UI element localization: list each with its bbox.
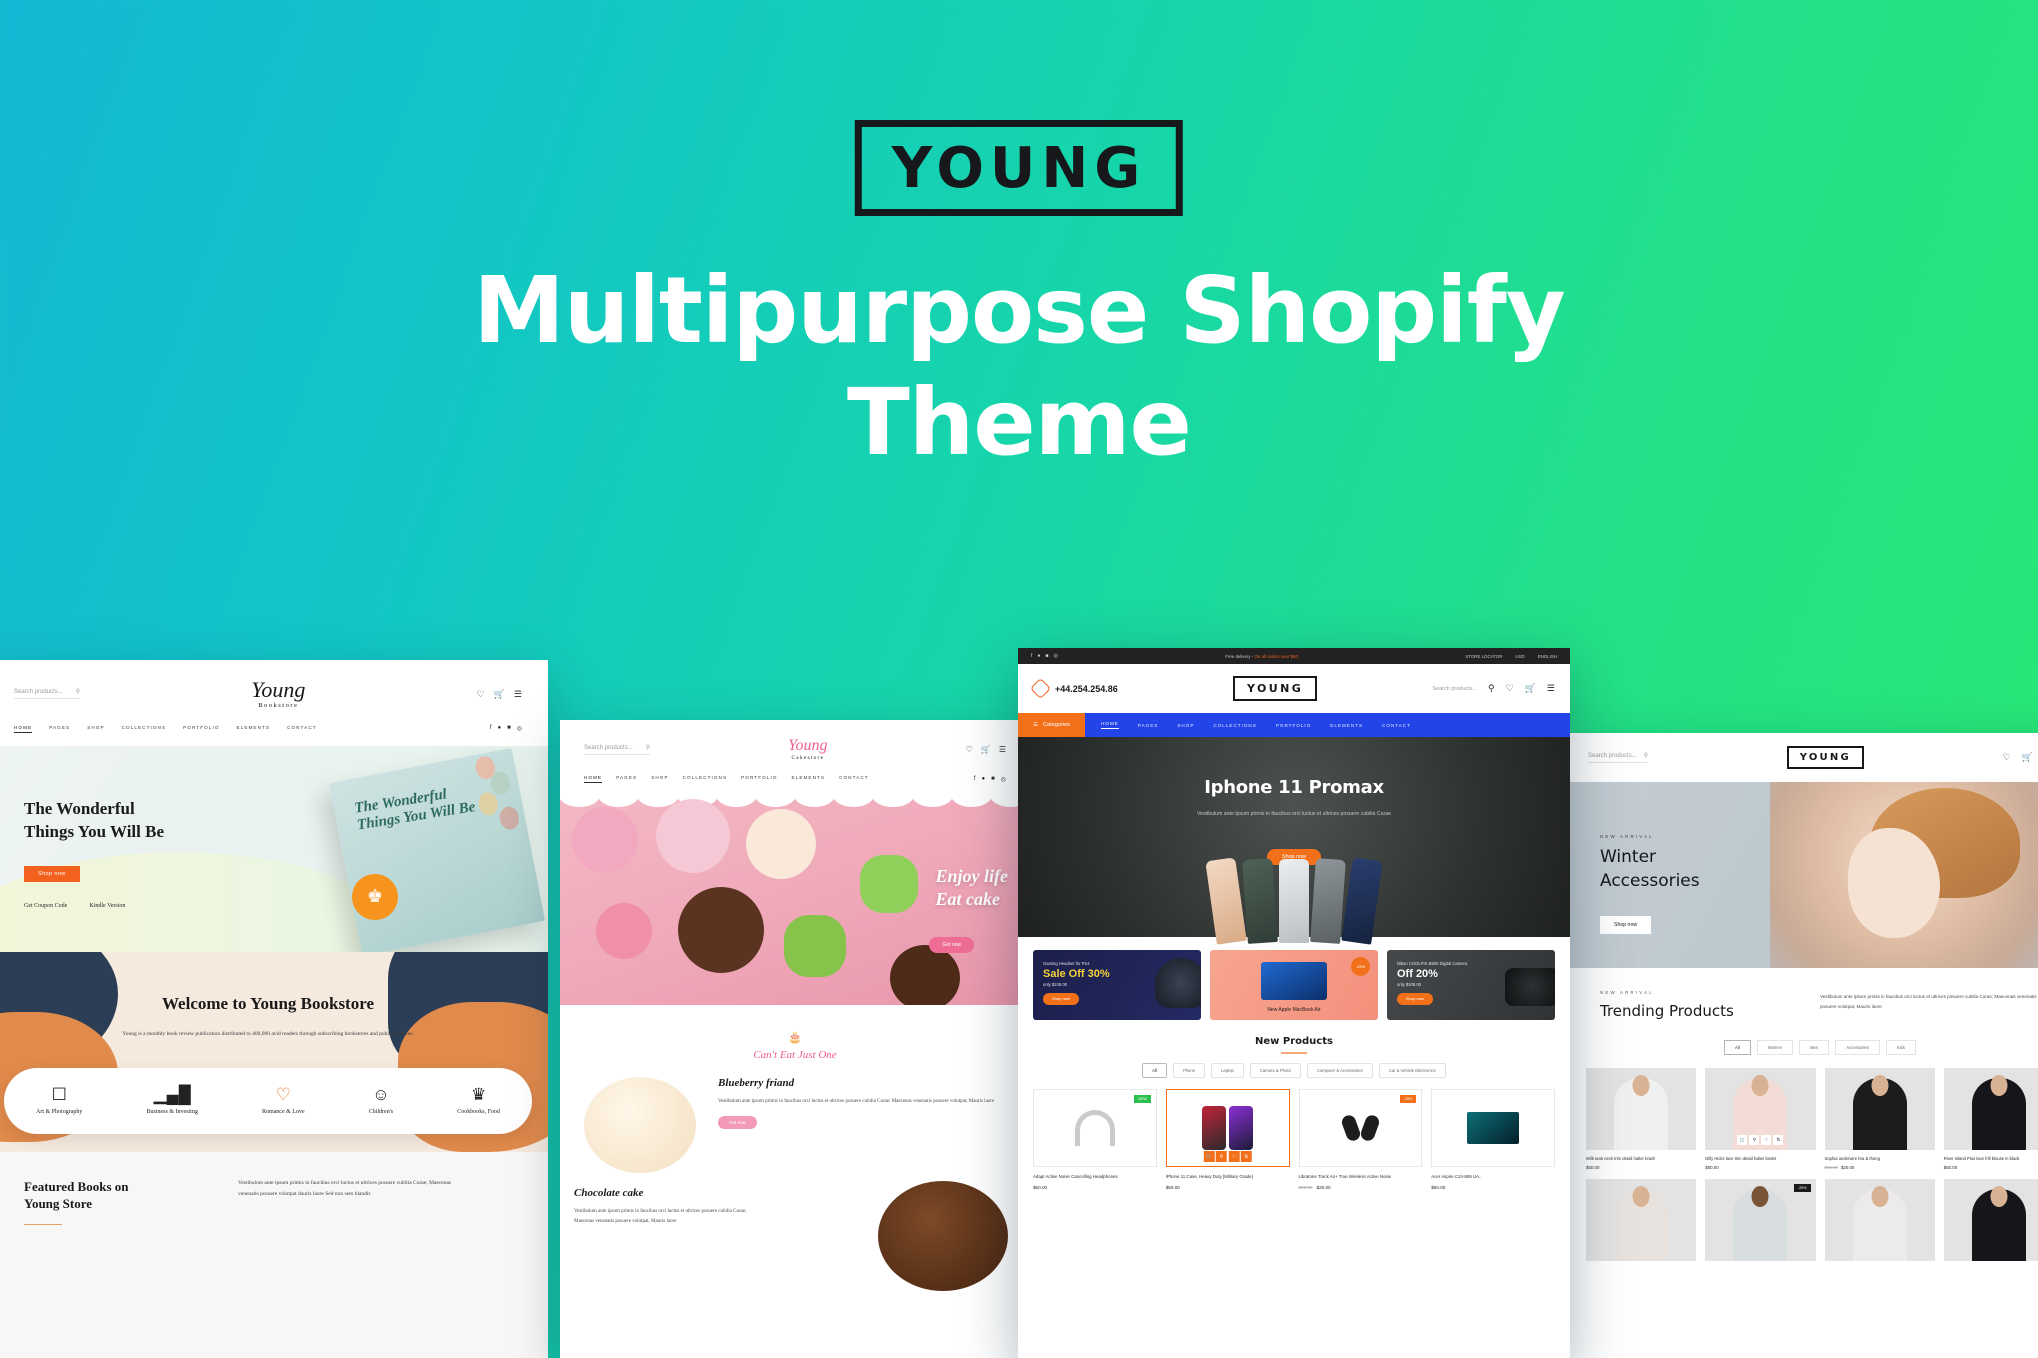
new-badge: NEW <box>1134 1095 1150 1103</box>
search-input[interactable]: Search products... <box>1432 686 1477 692</box>
camera-image <box>1505 968 1555 1006</box>
bookstore-logo-name: Young <box>251 680 305 701</box>
featured-books-section: Featured Books on Young Store Vestibulum… <box>0 1152 548 1358</box>
electronics-nav[interactable]: ☰ Categories HOME PAGES SHOP COLLECTIONS… <box>1018 713 1570 737</box>
wishlist-icon[interactable]: ♡ <box>2003 752 2011 763</box>
product-grid[interactable]: NEW Adapt Active Noise Cancelling Headph… <box>1018 1078 1570 1190</box>
smiley-icon: ☺ <box>369 1086 393 1103</box>
product-image[interactable] <box>1944 1179 2038 1261</box>
welcome-title: Welcome to Young Bookstore <box>0 994 548 1014</box>
hero-title-line-2: Accessories <box>1600 871 1700 891</box>
electronics-nav-links[interactable]: HOME PAGES SHOP COLLECTIONS PORTFOLIO EL… <box>1085 713 1570 737</box>
promo-banners[interactable]: Gaming Headset for PS4 Sale Off 30% only… <box>1018 937 1570 1030</box>
donut-image <box>678 887 764 973</box>
fashion-header: Search products... ⚲ YOUNG ♡ 🛒 ☰ <box>1570 733 2038 782</box>
chef-icon: ♛ <box>457 1086 500 1103</box>
search-placeholder: Search products... <box>584 745 633 751</box>
promo-banner-headset[interactable]: Gaming Headset for PS4 Sale Off 30% only… <box>1033 950 1201 1020</box>
product-price: $50.00 <box>1705 1165 1815 1170</box>
chart-icon: ▁▄█ <box>147 1086 198 1103</box>
cake-name: Blueberry friand <box>718 1077 1018 1089</box>
product-name: iPhone 11 Case, Heavy Duty [Military Gra… <box>1166 1174 1290 1181</box>
cakestore-social-links[interactable]: f ● ■ ◎ <box>974 776 1006 783</box>
model-head <box>1633 1186 1650 1207</box>
nav-item-home[interactable]: HOME <box>14 725 32 733</box>
category-romance-love[interactable]: ♡ Romance & Love <box>262 1086 305 1115</box>
discount-badge: -25% <box>1400 1095 1416 1103</box>
shop-now-button[interactable]: Shop now <box>1043 993 1079 1005</box>
product-image[interactable]: 🛒 ⚲ ♡ ⇅ <box>1705 1068 1815 1150</box>
cake-item[interactable]: Chocolate cake Vestibulum ante ipsum pri… <box>570 1187 1018 1227</box>
product-image[interactable] <box>1586 1179 1696 1261</box>
product-name: Libratone Track Air+ True Wireless Activ… <box>1299 1174 1423 1181</box>
electronics-header: +44.254.254.86 YOUNG Search products... … <box>1018 664 1570 713</box>
search-input[interactable]: Search products... ⚲ <box>584 745 650 755</box>
model-head <box>1752 1075 1769 1096</box>
category-label: Children's <box>369 1109 393 1115</box>
add-to-cart-icon[interactable]: 🛒 <box>1203 1151 1214 1162</box>
iphone-case-image <box>1202 1106 1226 1150</box>
preview-cakestore[interactable]: Search products... ⚲ Young Cakestore ♡ 🛒… <box>560 720 1030 1358</box>
cart-icon[interactable]: 🛒 <box>981 745 991 754</box>
product-card[interactable]: Acer Aspire C24-865 UA.. $50.00 <box>1431 1089 1555 1190</box>
iphone-screen-image <box>1229 1106 1253 1150</box>
product-name: Acer Aspire C24-865 UA.. <box>1431 1174 1555 1181</box>
tab-all[interactable]: All <box>1142 1063 1167 1078</box>
donut-image <box>572 807 638 873</box>
tab-women[interactable]: Women <box>1757 1040 1793 1055</box>
donut-image <box>596 903 652 959</box>
twitter-icon[interactable]: ● <box>982 776 986 783</box>
hero-title-line-1: The Wonderful <box>24 799 135 818</box>
nav-item-pages[interactable]: PAGES <box>49 725 70 733</box>
cake-photo <box>584 1077 696 1173</box>
search-input[interactable]: Search products... ⚲ <box>14 689 80 699</box>
frame-icon: ☐ <box>36 1086 82 1103</box>
search-icon[interactable]: ⚲ <box>1644 753 1648 759</box>
search-icon[interactable]: ⚲ <box>76 689 80 695</box>
product-new-price: $20.00 <box>1841 1165 1854 1170</box>
category-art-photography[interactable]: ☐ Art & Photography <box>36 1086 82 1115</box>
electronics-hero: Iphone 11 Promax Vestibulum ante ipsum p… <box>1018 737 1570 937</box>
cake-photo <box>878 1181 1008 1291</box>
electronics-logo[interactable]: YOUNG <box>1233 676 1317 701</box>
cakestore-logo-name: Young <box>788 738 827 754</box>
product-image[interactable]: -25% <box>1299 1089 1423 1167</box>
search-placeholder: Search products... <box>14 689 63 695</box>
bookstore-logo-sub: Bookstore <box>251 702 305 709</box>
cart-icon[interactable]: 🛒 <box>1525 683 1536 694</box>
product-name: Adapt Active Noise Cancelling Headphones <box>1033 1174 1157 1181</box>
youtube-icon[interactable]: ■ <box>507 725 511 732</box>
cakestore-logo[interactable]: Young Cakestore <box>788 738 827 761</box>
product-price: $50.00 <box>1431 1185 1555 1190</box>
search-icon[interactable]: ⚲ <box>646 745 650 751</box>
scallop-decoration <box>560 795 1030 807</box>
fashion-hero-title: Winter Accessories <box>1600 846 1700 894</box>
cake-icon: 🎂 <box>560 1031 1030 1044</box>
model-image <box>1770 782 2038 968</box>
menu-icon[interactable]: ☰ <box>1547 683 1555 694</box>
award-badge-icon: ♚ <box>352 874 398 920</box>
brand-logo-text: YOUNG <box>892 141 1146 197</box>
product-new-price: $20.00 <box>1317 1185 1331 1190</box>
product-image[interactable]: 🛒 ⚲ ♡ ⇅ <box>1166 1089 1290 1167</box>
balloons-decoration <box>475 757 521 834</box>
product-card[interactable]: NEW Adapt Active Noise Cancelling Headph… <box>1033 1089 1157 1190</box>
preview-bookstore[interactable]: Search products... ⚲ Young Bookstore ♡ 🛒… <box>0 660 548 1358</box>
cake-description: Vestibulum ante ipsum primis in faucibus… <box>574 1207 764 1227</box>
phone-number[interactable]: +44.254.254.86 <box>1033 681 1118 696</box>
shop-now-button[interactable]: Shop now <box>1600 916 1651 934</box>
nav-item-collections[interactable]: COLLECTIONS <box>1213 723 1256 728</box>
bookstore-nav[interactable]: HOME PAGES SHOP COLLECTIONS PORTFOLIO EL… <box>14 725 317 733</box>
quick-view-icon[interactable]: ⚲ <box>1749 1135 1759 1145</box>
product-card[interactable] <box>1825 1179 1935 1261</box>
heart-icon: ♡ <box>262 1086 305 1103</box>
product-name: Sophia underwire bra & thong <box>1825 1156 1935 1162</box>
menu-icon[interactable]: ☰ <box>999 745 1006 754</box>
model-head <box>1990 1186 2007 1207</box>
nav-item-pages[interactable]: PAGES <box>1138 723 1159 728</box>
product-card[interactable]: -25% <box>1705 1179 1815 1261</box>
get-now-button[interactable]: Get now <box>718 1116 757 1129</box>
category-strip[interactable]: ☐ Art & Photography ▁▄█ Business & Inves… <box>4 1068 532 1134</box>
menu-icon[interactable]: ☰ <box>514 689 522 700</box>
meringue-image <box>784 915 846 977</box>
cakestore-header-icons[interactable]: ♡ 🛒 ☰ <box>966 745 1006 754</box>
quick-view-icon[interactable]: ⚲ <box>1216 1151 1227 1162</box>
nav-item-shop[interactable]: SHOP <box>87 725 104 733</box>
page-title-line-2: Theme <box>0 367 2038 479</box>
earbud-image <box>1340 1113 1362 1142</box>
tab-car-vehicle[interactable]: Car & Vehicle Electronics <box>1379 1063 1446 1078</box>
twitter-icon[interactable]: ● <box>498 725 502 732</box>
welcome-text: Young is a monthly book review publicati… <box>93 1030 443 1040</box>
grid-icon: ☰ <box>1033 722 1038 728</box>
category-label: Cookbooks, Food <box>457 1109 500 1115</box>
nav-item-shop[interactable]: SHOP <box>651 775 668 783</box>
hero-title-line-1: Winter <box>1600 847 1656 867</box>
bookstore-welcome-section: Welcome to Young Bookstore Young is a mo… <box>0 952 548 1152</box>
fashion-hero: NEW ARRIVAL Winter Accessories Shop now <box>1570 782 2038 968</box>
promo-banner-macbook[interactable]: -25% New Apple MacBook Air <box>1210 950 1378 1020</box>
banner-caption: New Apple MacBook Air <box>1210 1007 1378 1013</box>
bookstore-header: Search products... ⚲ Young Bookstore ♡ 🛒… <box>0 660 548 746</box>
product-image[interactable] <box>1431 1089 1555 1167</box>
product-price: $50.00 <box>1033 1185 1157 1190</box>
cakestore-products-section: 🎂 Can't Eat Just One Blueberry friand Ve… <box>560 1005 1030 1233</box>
earbud-image <box>1359 1113 1381 1142</box>
product-image[interactable] <box>1825 1068 1935 1150</box>
product-name: Wilk tank neck trim detail halter brazil <box>1586 1156 1696 1162</box>
product-filter-tabs[interactable]: All Phone Laptop Camera & Photo Computer… <box>1018 1063 1570 1078</box>
donut-image <box>746 809 816 879</box>
compare-icon[interactable]: ⇅ <box>1773 1135 1783 1145</box>
wishlist-icon[interactable]: ♡ <box>477 689 485 700</box>
bookstore-hero: The Wonderful Things You Will Be Shop no… <box>0 746 548 952</box>
section-tagline: Can't Eat Just One <box>560 1049 1030 1061</box>
section-underline <box>1281 1052 1307 1054</box>
cake-name: Chocolate cake <box>574 1187 764 1199</box>
instagram-icon[interactable]: ◎ <box>517 725 522 732</box>
brand-logo: YOUNG <box>855 120 1183 216</box>
wishlist-icon[interactable]: ♡ <box>1228 1151 1239 1162</box>
hero-title-line-2: Eat cake <box>936 889 1001 909</box>
product-card[interactable]: 🛒 ⚲ ♡ ⇅ iPhone 11 Case, Heavy Duty [Mili… <box>1166 1089 1290 1190</box>
fashion-logo[interactable]: YOUNG <box>1787 746 1864 769</box>
product-price: $50.00$20.00 <box>1825 1165 1935 1170</box>
cake-description: Vestibulum ante ipsum primis in faucibus… <box>718 1097 1018 1107</box>
cakestore-nav[interactable]: HOME PAGES SHOP COLLECTIONS PORTFOLIO EL… <box>584 775 869 783</box>
discount-badge: -25% <box>1794 1184 1810 1192</box>
hero-title-line-2: Things You Will Be <box>24 822 164 841</box>
tab-kids[interactable]: Kids <box>1886 1040 1916 1055</box>
cakestore-hero-title: Enjoy life Eat cake <box>936 865 1009 910</box>
cakestore-hero: Enjoy life Eat cake Get now <box>560 795 1030 1005</box>
product-image[interactable] <box>1825 1179 1935 1261</box>
section-text: Vestibulum ante ipsum primis in faucibus… <box>1820 992 2038 1011</box>
page-title: Multipurpose Shopify Theme <box>0 255 2038 479</box>
meringue-image <box>860 855 918 913</box>
hero-title-line-1: Enjoy life <box>936 866 1009 886</box>
search-icon[interactable]: ⚲ <box>1488 683 1495 694</box>
category-label: Romance & Love <box>262 1109 305 1115</box>
product-image[interactable] <box>1944 1068 2038 1150</box>
categories-label: Categories <box>1043 722 1070 728</box>
product-image[interactable]: NEW <box>1033 1089 1157 1167</box>
book-cover-title: The Wonderful Things You Will Be <box>353 782 477 835</box>
product-actions[interactable]: 🛒 ⚲ ♡ ⇅ <box>1203 1151 1252 1162</box>
wishlist-icon[interactable]: ♡ <box>1761 1135 1771 1145</box>
kindle-version-link[interactable]: Kindle Version <box>89 903 125 909</box>
nav-item-home[interactable]: HOME <box>584 775 602 783</box>
preview-electronics[interactable]: f ● ■ ◎ Free delivery - On all orders ov… <box>1018 648 1570 1358</box>
search-placeholder: Search products... <box>1588 753 1637 759</box>
shop-now-button[interactable]: Shop now <box>24 866 80 882</box>
category-business-investing[interactable]: ▁▄█ Business & Investing <box>147 1086 198 1115</box>
cake-item[interactable]: Blueberry friand Vestibulum ante ipsum p… <box>570 1077 1018 1129</box>
tab-phone[interactable]: Phone <box>1173 1063 1205 1078</box>
featured-title-line-2: Young Store <box>24 1196 92 1211</box>
categories-button[interactable]: ☰ Categories <box>1018 713 1085 737</box>
product-actions[interactable]: 🛒 ⚲ ♡ ⇅ <box>1737 1135 1783 1145</box>
electronics-header-tools[interactable]: Search products... ⚲ ♡ 🛒 ☰ <box>1432 683 1555 694</box>
model-head <box>1990 1075 2007 1096</box>
product-card[interactable] <box>1586 1179 1696 1261</box>
iphone-lineup-image <box>1090 847 1498 943</box>
product-card[interactable] <box>1944 1179 2038 1261</box>
product-card[interactable]: 🛒 ⚲ ♡ ⇅ Dilly Hicks lace trim detail hal… <box>1705 1068 1815 1170</box>
bookstore-hero-title: The Wonderful Things You Will Be <box>24 798 164 844</box>
bookstore-social-links[interactable]: f ● ■ ◎ <box>490 725 522 732</box>
trending-products-section: NEW ARRIVAL Trending Products Vestibulum… <box>1570 968 2038 1055</box>
fashion-header-tools[interactable]: ♡ 🛒 ☰ <box>2003 752 2038 763</box>
promo-banner-camera[interactable]: Nikon COOLPIX B500 Digital Camera Off 20… <box>1387 950 1555 1020</box>
shop-now-button[interactable]: Shop now <box>1397 993 1433 1005</box>
wishlist-icon[interactable]: ♡ <box>1506 683 1514 694</box>
product-card[interactable]: River Island Plus lace frill blouse in b… <box>1944 1068 2038 1170</box>
tab-camera-photo[interactable]: Camera & Photo <box>1250 1063 1301 1078</box>
product-filter-tabs[interactable]: All Women Men Accessories Kids <box>1600 1040 2038 1055</box>
product-grid-row-2[interactable]: -25% <box>1570 1170 2038 1261</box>
product-card[interactable]: -25% Libratone Track Air+ True Wireless … <box>1299 1089 1423 1190</box>
bookstore-hero-links[interactable]: Get Coupon Code Kindle Version <box>24 903 125 909</box>
electronics-hero-title: Iphone 11 Promax <box>1018 777 1570 798</box>
product-price: $50.00 <box>1944 1165 2038 1170</box>
discount-badge: -25% <box>1351 957 1370 976</box>
category-label: Business & Investing <box>147 1109 198 1115</box>
get-now-button[interactable]: Get now <box>929 937 974 953</box>
nav-item-elements[interactable]: ELEMENTS <box>237 725 271 733</box>
tab-accessories[interactable]: Accessories <box>1835 1040 1880 1055</box>
cakestore-header: Search products... ⚲ Young Cakestore ♡ 🛒… <box>560 720 1030 795</box>
nav-item-collections[interactable]: COLLECTIONS <box>122 725 167 733</box>
product-card[interactable]: Wilk tank neck trim detail halter brazil… <box>1586 1068 1696 1170</box>
tab-laptop[interactable]: Laptop <box>1211 1063 1244 1078</box>
tab-men[interactable]: Men <box>1799 1040 1829 1055</box>
bookstore-header-icons[interactable]: ♡ 🛒 ☰ <box>477 689 522 700</box>
cart-icon[interactable]: 🛒 <box>494 689 505 700</box>
product-old-price: $50.00 <box>1299 1185 1313 1190</box>
electronics-hero-text: Vestibulum ante ipsum primis in faucibus… <box>1088 809 1500 819</box>
cakestore-logo-sub: Cakestore <box>788 755 827 761</box>
face-decoration <box>1848 828 1940 938</box>
model-head <box>1871 1186 1888 1207</box>
product-grid-row-1[interactable]: Wilk tank neck trim detail halter brazil… <box>1570 1055 2038 1170</box>
phone-number-text: +44.254.254.86 <box>1055 684 1118 694</box>
tab-computer-accessories[interactable]: Computer & Accessories <box>1307 1063 1373 1078</box>
nav-item-portfolio[interactable]: PORTFOLIO <box>183 725 219 733</box>
nav-item-home[interactable]: HOME <box>1101 721 1119 729</box>
product-image[interactable] <box>1586 1068 1696 1150</box>
new-products-title: New Products <box>1018 1036 1570 1047</box>
nav-item-elements[interactable]: ELEMENTS <box>1330 723 1363 728</box>
coupon-code-link[interactable]: Get Coupon Code <box>24 903 67 909</box>
hero-section: YOUNG Multipurpose Shopify Theme <box>0 0 2038 660</box>
tab-all[interactable]: All <box>1724 1040 1751 1055</box>
new-products-section: New Products All Phone Laptop Camera & P… <box>1018 1030 1570 1190</box>
nav-item-contact[interactable]: CONTACT <box>287 725 317 733</box>
hero-kicker: NEW ARRIVAL <box>1600 834 1654 839</box>
nav-item-collections[interactable]: COLLECTIONS <box>683 775 728 783</box>
facebook-icon[interactable]: f <box>974 776 976 783</box>
category-childrens[interactable]: ☺ Children's <box>369 1086 393 1115</box>
nav-item-portfolio[interactable]: PORTFOLIO <box>741 775 777 783</box>
model-head <box>1752 1186 1769 1207</box>
product-image[interactable]: -25% <box>1705 1179 1815 1261</box>
wishlist-icon[interactable]: ♡ <box>966 745 973 754</box>
product-old-price: $50.00 <box>1825 1165 1838 1170</box>
nav-item-pages[interactable]: PAGES <box>616 775 637 783</box>
product-name: River Island Plus lace frill blouse in b… <box>1944 1156 2038 1162</box>
phone-icon <box>1030 678 1051 699</box>
product-price: $50.00 <box>1586 1165 1696 1170</box>
category-cookbooks-food[interactable]: ♛ Cookbooks, Food <box>457 1086 500 1115</box>
bookstore-logo[interactable]: Young Bookstore <box>251 680 305 709</box>
featured-underline <box>24 1224 62 1226</box>
facebook-icon[interactable]: f <box>490 725 492 732</box>
cart-icon[interactable]: 🛒 <box>2022 752 2033 763</box>
compare-icon[interactable]: ⇅ <box>1241 1151 1252 1162</box>
preview-fashion[interactable]: Search products... ⚲ YOUNG ♡ 🛒 ☰ NEW ARR… <box>1570 733 2038 1358</box>
youtube-icon[interactable]: ■ <box>991 776 995 783</box>
macbook-image <box>1261 962 1327 1000</box>
headphones-image <box>1075 1110 1115 1146</box>
headset-image <box>1155 958 1201 1008</box>
product-price: $50.00$20.00 <box>1299 1185 1423 1190</box>
page-title-line-1: Multipurpose Shopify <box>473 257 1564 364</box>
category-label: Art & Photography <box>36 1109 82 1115</box>
model-head <box>1871 1075 1888 1096</box>
nav-item-shop[interactable]: SHOP <box>1177 723 1194 728</box>
add-to-cart-icon[interactable]: 🛒 <box>1737 1135 1747 1145</box>
nav-item-contact[interactable]: CONTACT <box>839 775 869 783</box>
model-head <box>1633 1075 1650 1096</box>
product-card[interactable]: Sophia underwire bra & thong $50.00$20.0… <box>1825 1068 1935 1170</box>
product-name: Dilly Hicks lace trim detail halter bral… <box>1705 1156 1815 1162</box>
book-cover-image: The Wonderful Things You Will Be <box>329 748 545 952</box>
nav-item-contact[interactable]: CONTACT <box>1382 723 1411 728</box>
nav-item-portfolio[interactable]: PORTFOLIO <box>1276 723 1311 728</box>
banner-kicker: Nikon COOLPIX B500 Digital Camera <box>1397 961 1545 966</box>
featured-title-line-1: Featured Books on <box>24 1179 129 1194</box>
donut-image <box>656 799 730 873</box>
instagram-icon[interactable]: ◎ <box>1001 776 1006 783</box>
showcase-row: Search products... ⚲ Young Bookstore ♡ 🛒… <box>0 648 2038 1358</box>
nav-item-elements[interactable]: ELEMENTS <box>792 775 826 783</box>
product-price: $50.00 <box>1166 1185 1290 1190</box>
monitor-image <box>1467 1112 1519 1144</box>
chocolate-image <box>890 945 960 1005</box>
featured-text: Vestibulum ante ipsum primis in faucibus… <box>238 1178 468 1200</box>
search-input[interactable]: Search products... ⚲ <box>1588 753 1648 763</box>
